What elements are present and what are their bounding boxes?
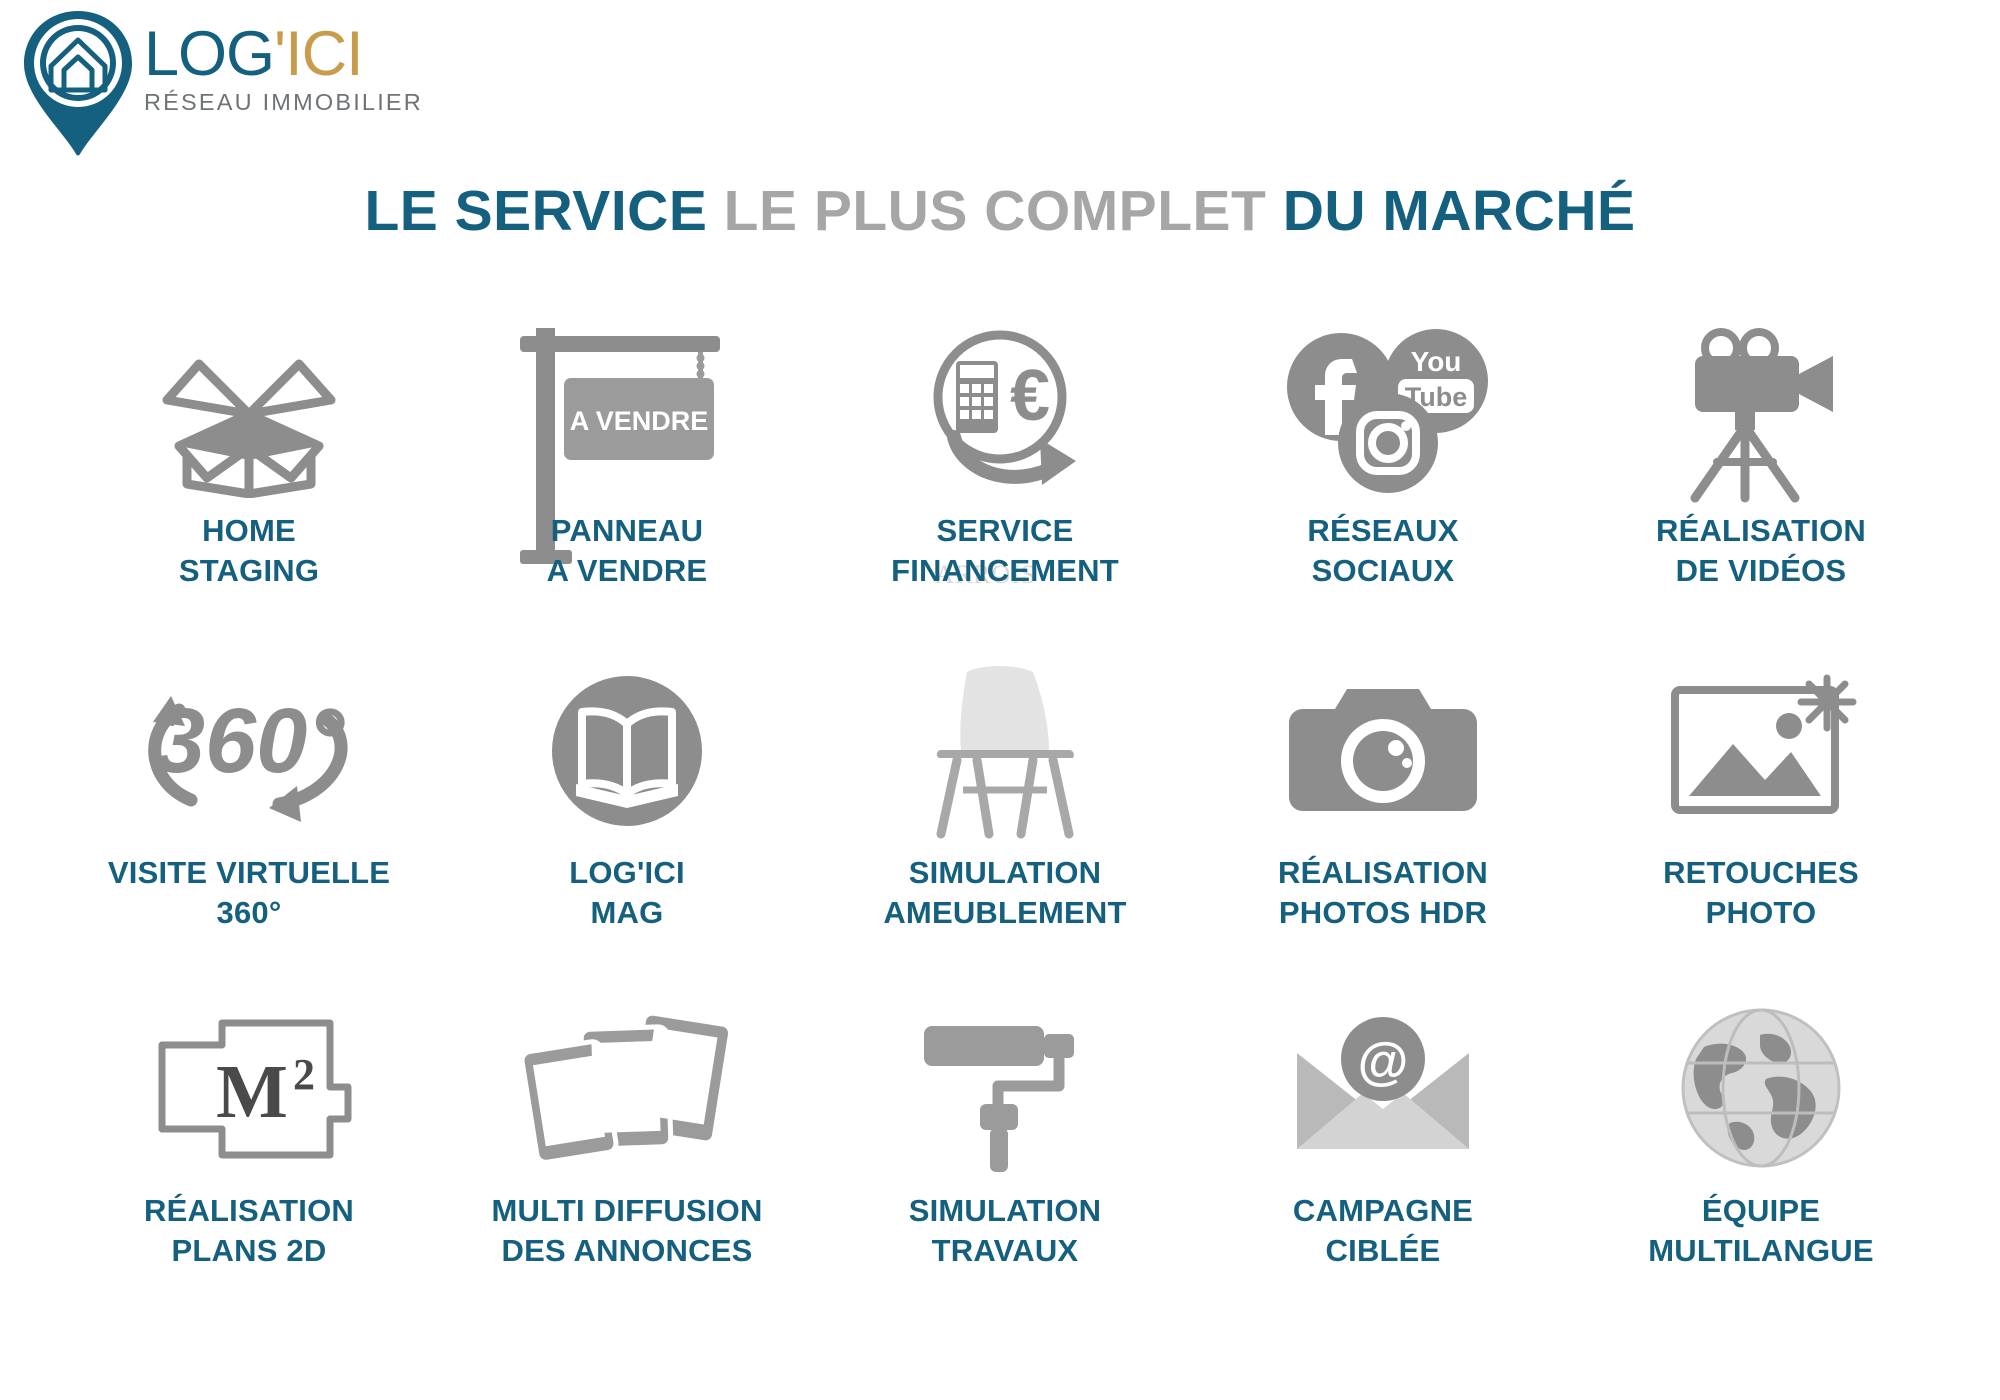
multiple-tablets-icon xyxy=(517,996,737,1181)
service-label: SIMULATION AMEUBLEMENT xyxy=(883,853,1126,932)
svg-text:€: € xyxy=(1010,356,1050,436)
service-label: HOME STAGING xyxy=(179,511,319,590)
service-item-multi-diffusion[interactable]: MULTI DIFFUSION DES ANNONCES xyxy=(438,996,816,1334)
service-label: CAMPAGNE CIBLÉE xyxy=(1293,1191,1473,1270)
service-item-panneau-a-vendre[interactable]: A VENDRE PANNEAU A VENDRE xyxy=(438,320,816,658)
location-pin-house-icon xyxy=(18,8,138,158)
floorplan-m2-icon: M 2 xyxy=(144,996,354,1181)
video-camera-tripod-icon xyxy=(1661,320,1861,505)
open-box-icon xyxy=(149,320,349,505)
service-label: LOG'ICI MAG xyxy=(569,853,685,932)
for-sale-sign-icon: A VENDRE xyxy=(512,320,742,505)
service-item-simulation-travaux[interactable]: SIMULATION TRAVAUX xyxy=(816,996,1194,1334)
service-item-retouches-photo[interactable]: RETOUCHES PHOTO xyxy=(1572,658,1950,996)
title-segment-2: LE PLUS COMPLET xyxy=(724,179,1283,243)
logo-word-log: LOG xyxy=(144,19,274,89)
service-label: RÉALISATION DE VIDÉOS xyxy=(1656,511,1866,590)
service-label: MULTI DIFFUSION DES ANNONCES xyxy=(491,1191,762,1270)
service-item-home-staging[interactable]: HOME STAGING xyxy=(60,320,438,658)
service-label: VISITE VIRTUELLE 360° xyxy=(108,853,390,932)
service-item-realisation-de-videos[interactable]: RÉALISATION DE VIDÉOS xyxy=(1572,320,1950,658)
brand-logo: LOG'ICI RÉSEAU IMMOBILIER xyxy=(18,8,423,158)
title-segment-3: DU MARCHÉ xyxy=(1283,179,1636,243)
photo-camera-icon xyxy=(1283,658,1483,843)
svg-text:M: M xyxy=(216,1050,288,1134)
service-label: SERVICE FINANCEMENT xyxy=(891,511,1119,590)
paint-roller-icon xyxy=(910,996,1100,1181)
sign-text: A VENDRE xyxy=(570,406,709,436)
service-item-equipe-multilangue[interactable]: ÉQUIPE MULTILANGUE xyxy=(1572,996,1950,1334)
title-segment-1: LE SERVICE xyxy=(364,179,723,243)
page-title: LE SERVICE LE PLUS COMPLET DU MARCHÉ xyxy=(0,178,2000,244)
service-label: ÉQUIPE MULTILANGUE xyxy=(1648,1191,1873,1270)
service-label: SIMULATION TRAVAUX xyxy=(909,1191,1102,1270)
service-label: RETOUCHES PHOTO xyxy=(1663,853,1859,932)
services-grid: HOME STAGING A VENDRE PANNEAU A VENDRE xyxy=(60,320,1950,1334)
svg-text:You: You xyxy=(1410,346,1461,377)
euro-calculator-arrow-icon: € xyxy=(900,320,1110,505)
photo-retouch-sparkle-icon xyxy=(1661,658,1861,843)
logo-word-ici: 'ICI xyxy=(274,19,363,89)
service-item-realisation-photos-hdr[interactable]: RÉALISATION PHOTOS HDR xyxy=(1194,658,1572,996)
360-degrees-icon: 360° xyxy=(129,658,369,843)
service-item-simulation-ameublement[interactable]: SIMULATION AMEUBLEMENT xyxy=(816,658,1194,996)
service-item-realisation-plans-2d[interactable]: M 2 RÉALISATION PLANS 2D xyxy=(60,996,438,1334)
email-envelope-at-icon: @ xyxy=(1283,996,1483,1181)
instagram-icon xyxy=(1338,393,1438,493)
service-label: RÉSEAUX SOCIAUX xyxy=(1307,511,1458,590)
service-item-visite-virtuelle-360[interactable]: 360° VISITE VIRTUELLE 360° xyxy=(60,658,438,996)
logo-tagline: RÉSEAU IMMOBILIER xyxy=(144,89,423,116)
service-item-service-financement[interactable]: € SERVICE FINANCEMENT xyxy=(816,320,1194,658)
open-book-circle-icon xyxy=(542,658,712,843)
service-label: PANNEAU A VENDRE xyxy=(547,511,708,590)
service-label: RÉALISATION PHOTOS HDR xyxy=(1278,853,1488,932)
service-item-reseaux-sociaux[interactable]: You Tube RÉSEAUX SOCIAUX xyxy=(1194,320,1572,658)
svg-text:2: 2 xyxy=(293,1050,315,1099)
service-label: RÉALISATION PLANS 2D xyxy=(144,1191,354,1270)
social-networks-icon: You Tube xyxy=(1276,320,1491,505)
chair-icon xyxy=(915,658,1095,843)
service-item-logici-mag[interactable]: LOG'ICI MAG xyxy=(438,658,816,996)
globe-icon xyxy=(1674,996,1849,1181)
service-item-campagne-ciblee[interactable]: @ CAMPAGNE CIBLÉE xyxy=(1194,996,1572,1334)
svg-text:@: @ xyxy=(1358,1033,1409,1091)
